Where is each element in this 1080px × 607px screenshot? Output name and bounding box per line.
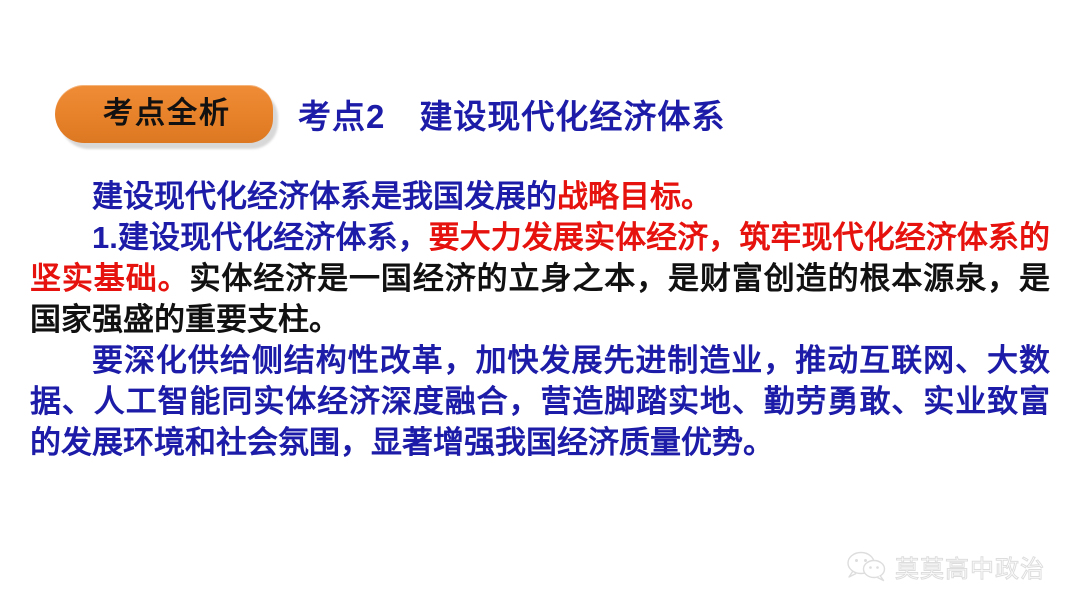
slide-canvas: 考点全析 考点2 建设现代化经济体系 建设现代化经济体系是我国发展的战略目标。 … (0, 0, 1080, 607)
paragraph-3: 要深化供给侧结构性改革，加快发展先进制造业，推动互联网、大数据、人工智能同实体经… (30, 340, 1050, 463)
page-title: 考点2 建设现代化经济体系 (298, 90, 725, 138)
badge-pill: 考点全析 (55, 85, 273, 143)
badge-label: 考点全析 (97, 99, 231, 129)
para3-blue-text: 要深化供给侧结构性改革，加快发展先进制造业，推动互联网、大数据、人工智能同实体经… (30, 343, 1050, 460)
paragraph-2: 1.建设现代化经济体系，要大力发展实体经济，筑牢现代化经济体系的坚实基础。实体经… (30, 217, 1050, 340)
para2-blue-text: 1.建设现代化经济体系， (92, 220, 429, 255)
watermark: 莫莫高中政治 (845, 546, 1055, 586)
paragraph-1: 建设现代化经济体系是我国发展的战略目标。 (30, 176, 1050, 217)
watermark-label: 莫莫高中政治 (895, 549, 1045, 584)
slide-body: 建设现代化经济体系是我国发展的战略目标。 1.建设现代化经济体系，要大力发展实体… (30, 176, 1050, 463)
para1-red-text: 战略目标。 (557, 179, 712, 214)
para1-blue-text: 建设现代化经济体系是我国发展的 (92, 179, 557, 214)
wechat-icon (845, 550, 887, 582)
section-badge: 考点全析 (55, 85, 273, 143)
slide-header: 考点全析 考点2 建设现代化经济体系 (0, 76, 1080, 150)
